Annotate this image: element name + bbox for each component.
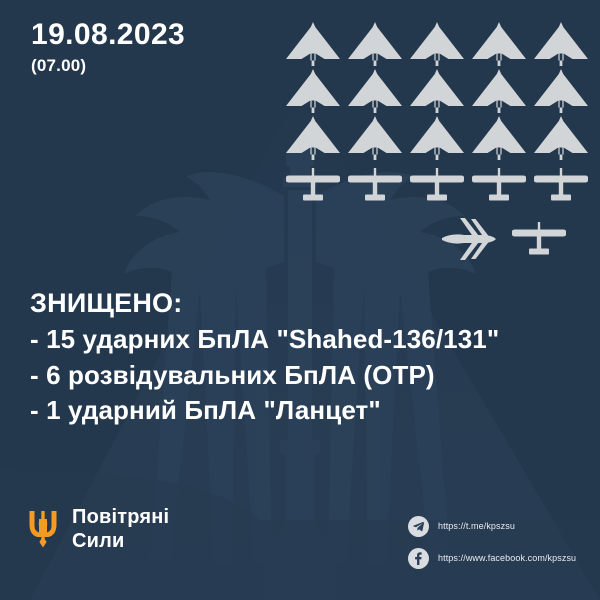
recon-drone-icon: [532, 168, 590, 202]
brand-name-line2: Сили: [72, 529, 169, 553]
shahed-drone-icon: [408, 116, 466, 160]
facebook-url: https://www.facebook.com/kpszsu: [438, 553, 576, 563]
shahed-drone-icon: [470, 69, 528, 113]
shahed-drone-icon: [284, 69, 342, 113]
telegram-url: https://t.me/kpszsu: [438, 521, 515, 531]
recon-drone-icon: [408, 168, 466, 202]
lancet-drone-icon: [438, 216, 500, 262]
shahed-row-2: [284, 69, 590, 113]
report-time: (07.00): [31, 57, 185, 74]
report-line-shahed: - 15 ударних БпЛА "Shahed-136/131": [30, 322, 499, 358]
brand-block: Повітряні Сили: [28, 505, 169, 554]
recon-row-1: [284, 168, 590, 202]
social-link-facebook[interactable]: https://www.facebook.com/kpszsu: [408, 545, 576, 571]
ukrainian-trident-icon: [28, 509, 58, 549]
shahed-drone-icon: [532, 22, 590, 66]
shahed-drone-icon: [532, 116, 590, 160]
header: 19.08.2023 (07.00): [31, 20, 185, 74]
drone-icon-field: [284, 22, 592, 262]
report-line-lancet: - 1 ударний БпЛА "Ланцет": [30, 393, 499, 429]
shahed-drone-icon: [346, 22, 404, 66]
shahed-drone-icon: [532, 69, 590, 113]
recon-drone-icon: [470, 168, 528, 202]
facebook-icon: [408, 548, 429, 569]
social-link-telegram[interactable]: https://t.me/kpszsu: [408, 513, 576, 539]
shahed-drone-icon: [470, 22, 528, 66]
infographic-poster: 19.08.2023 (07.00): [0, 0, 600, 600]
brand-name-line1: Повітряні: [72, 505, 169, 529]
lancet-and-recon-row: [438, 216, 568, 262]
shahed-drone-icon: [284, 22, 342, 66]
report-date: 19.08.2023: [31, 20, 185, 50]
shahed-drone-icon: [470, 116, 528, 160]
shahed-row-1: [284, 22, 590, 66]
recon-drone-icon: [284, 168, 342, 202]
recon-drone-icon: [346, 168, 404, 202]
social-links: https://t.me/kpszsu https://www.facebook…: [408, 513, 576, 577]
telegram-icon: [408, 516, 429, 537]
shahed-drone-icon: [346, 116, 404, 160]
shahed-drone-icon: [408, 69, 466, 113]
report-text-block: ЗНИЩЕНО: - 15 ударних БпЛА "Shahed-136/1…: [30, 286, 499, 429]
report-line-recon: - 6 розвідувальних БпЛА (ОТР): [30, 358, 499, 394]
shahed-row-3: [284, 116, 590, 160]
brand-name: Повітряні Сили: [72, 505, 169, 554]
shahed-drone-icon: [408, 22, 466, 66]
shahed-drone-icon: [346, 69, 404, 113]
report-heading: ЗНИЩЕНО:: [30, 286, 499, 322]
recon-drone-icon: [510, 222, 568, 256]
shahed-drone-icon: [284, 116, 342, 160]
